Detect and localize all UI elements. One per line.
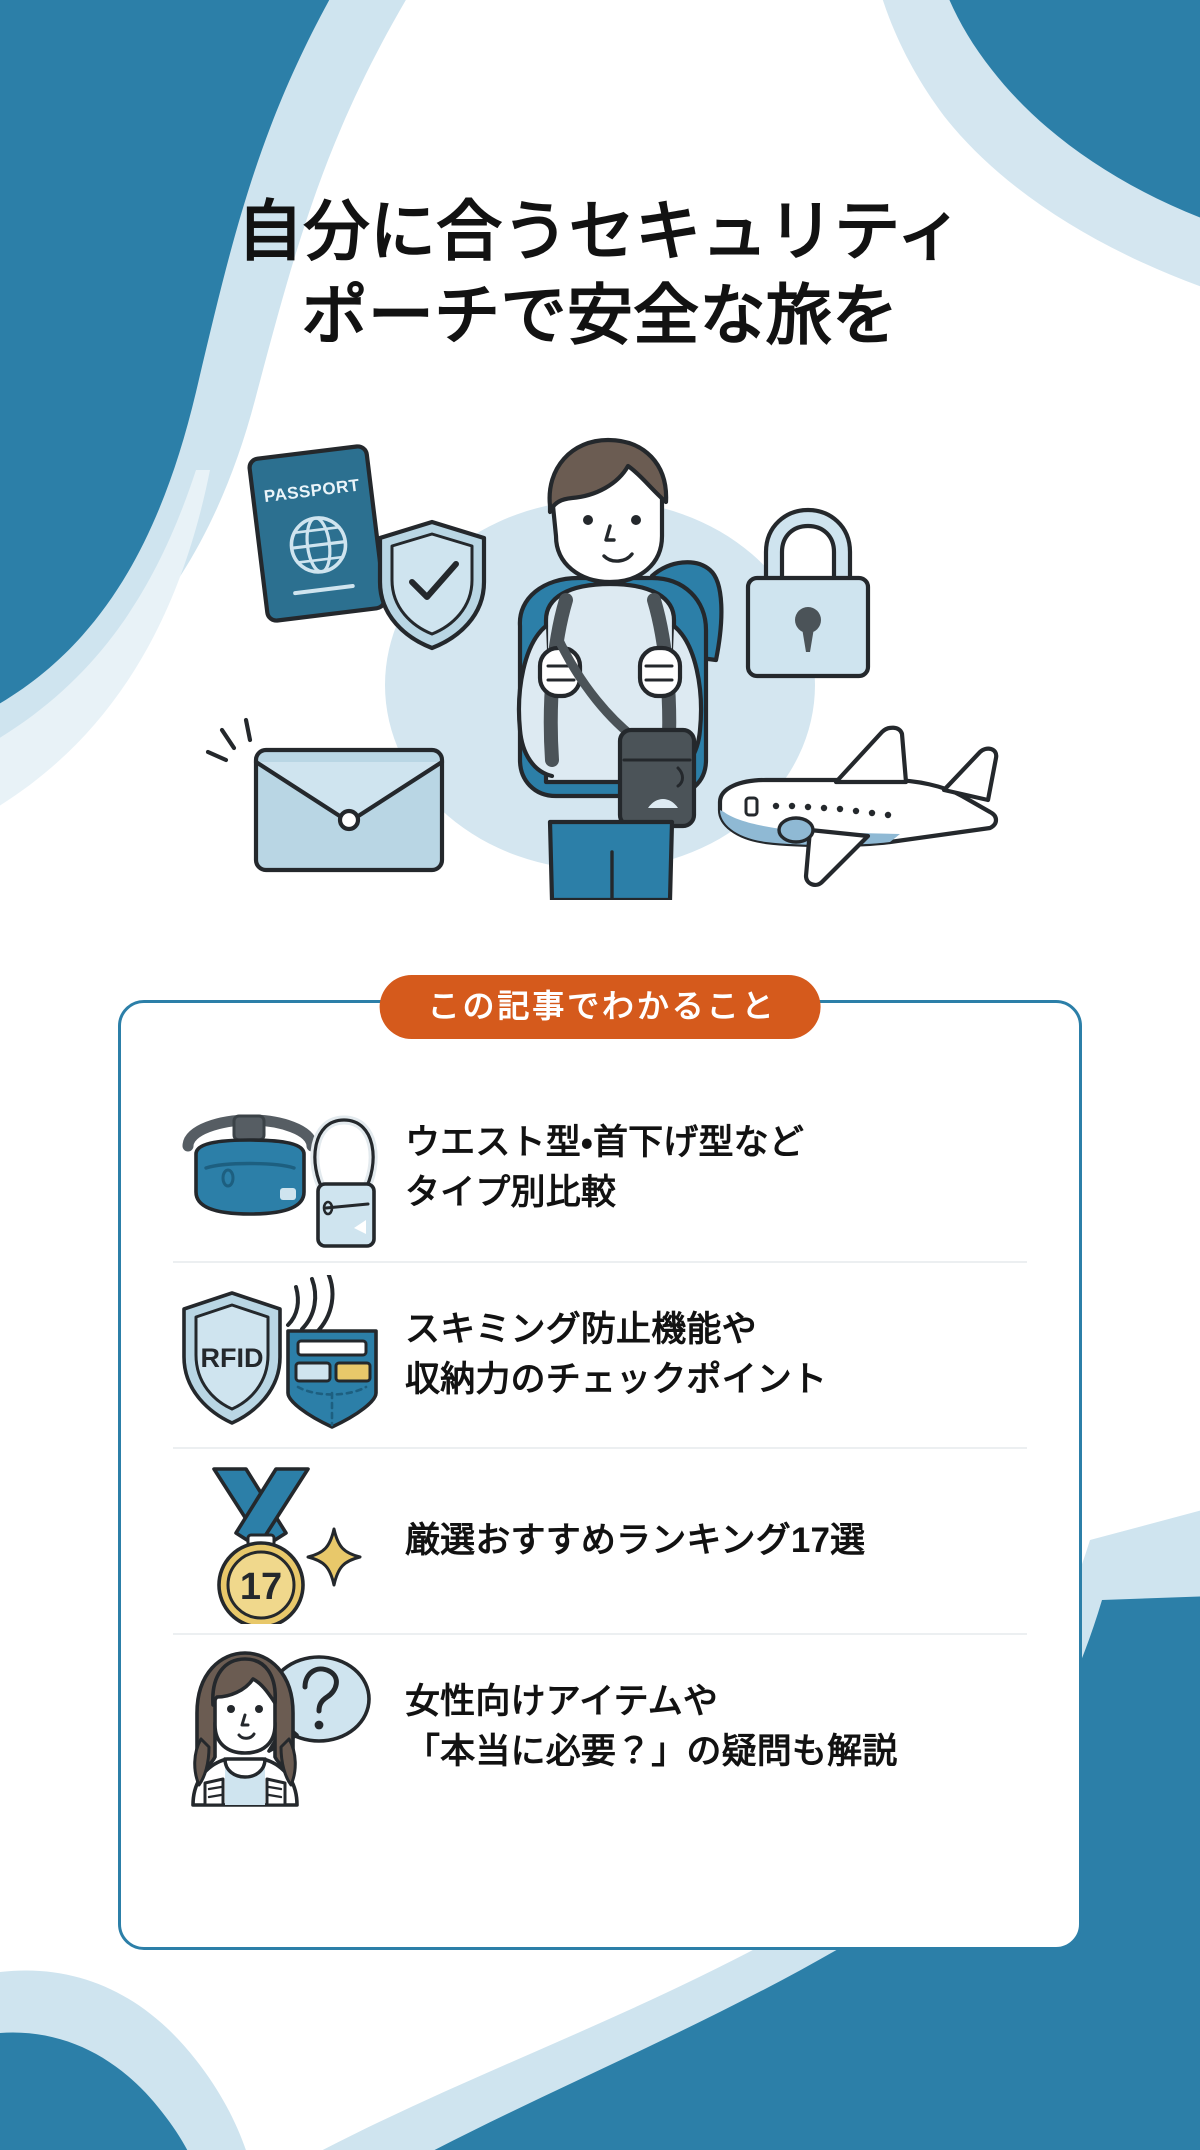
passport-icon: PASSPORT [249, 445, 386, 621]
svg-text:RFID: RFID [200, 1343, 263, 1373]
page-title: 自分に合うセキュリティ ポーチで安全な旅を [0, 190, 1200, 358]
poster-root: 自分に合うセキュリティ ポーチで安全な旅を PASSPORT [0, 0, 1200, 2150]
sling-bag-icon [620, 730, 694, 826]
woman-question-icon [173, 1645, 383, 1810]
list-item-label: 女性向けアイテムや 「本当に必要？」の疑問も解説 [405, 1677, 897, 1776]
summary-list: ウエスト型・首下げ型など タイプ別比較 RFID [121, 1075, 1079, 1819]
rfid-shield-and-wallet-icon: RFID [173, 1273, 383, 1438]
list-item[interactable]: ウエスト型・首下げ型など タイプ別比較 [173, 1075, 1027, 1261]
list-item-label: スキミング防止機能や 収納力のチェックポイント [405, 1305, 827, 1404]
list-item[interactable]: 17 厳選おすすめランキング17選 [173, 1447, 1027, 1633]
waist-pouch-and-neck-pouch-icon [173, 1086, 383, 1251]
list-item[interactable]: RFID [173, 1261, 1027, 1447]
list-item-label: ウエスト型・首下げ型など タイプ別比較 [405, 1118, 804, 1217]
list-item-label: 厳選おすすめランキング17選 [405, 1516, 865, 1566]
medal-17-icon: 17 [173, 1459, 383, 1624]
summary-card: ウエスト型・首下げ型など タイプ別比較 RFID [118, 1000, 1082, 1950]
section-badge: この記事でわかること [380, 975, 821, 1039]
padlock-icon [748, 510, 868, 676]
hero-illustration: PASSPORT [200, 430, 1000, 900]
list-item[interactable]: 女性向けアイテムや 「本当に必要？」の疑問も解説 [173, 1633, 1027, 1819]
medal-number: 17 [239, 1566, 281, 1608]
